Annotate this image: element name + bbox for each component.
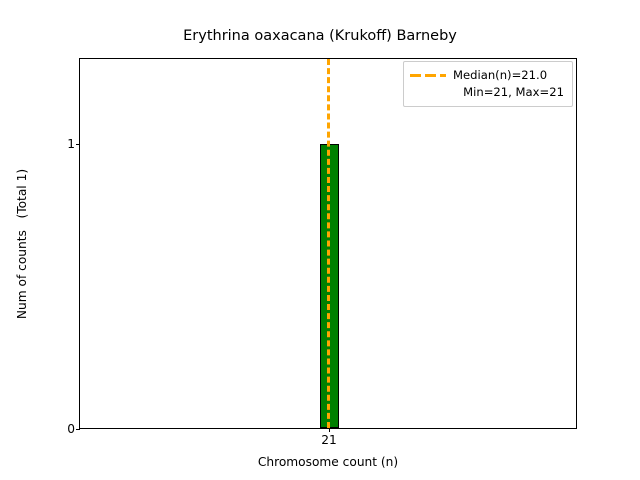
- chart-figure: Erythrina oaxacana (Krukoff) Barneby Num…: [0, 0, 640, 480]
- y-tick-label-0: 0: [67, 423, 75, 435]
- chart-legend: Median(n)=21.0 Min=21, Max=21: [403, 61, 573, 107]
- x-tick-label-21: 21: [321, 434, 337, 447]
- plot-inner-clip: [80, 59, 576, 428]
- y-axis-label-container: Num of counts (Total 1): [0, 58, 44, 429]
- legend-label-median: Median(n)=21.0: [453, 68, 547, 83]
- plot-area: 0 1 21: [79, 58, 577, 429]
- legend-label-minmax: Min=21, Max=21: [463, 85, 564, 100]
- x-axis-label: Chromosome count (n): [79, 455, 577, 469]
- median-line: [327, 59, 330, 428]
- legend-dashed-line-icon: [410, 71, 446, 81]
- legend-entry-median: Median(n)=21.0: [410, 67, 565, 84]
- chart-title: Erythrina oaxacana (Krukoff) Barneby: [0, 27, 640, 45]
- y-axis-label: Num of counts (Total 1): [15, 168, 29, 318]
- y-tick-label-1: 1: [67, 138, 75, 150]
- legend-entry-minmax: Min=21, Max=21: [410, 84, 565, 101]
- y-tick-mark-0: [76, 429, 80, 430]
- x-tick-mark-21: [329, 428, 330, 432]
